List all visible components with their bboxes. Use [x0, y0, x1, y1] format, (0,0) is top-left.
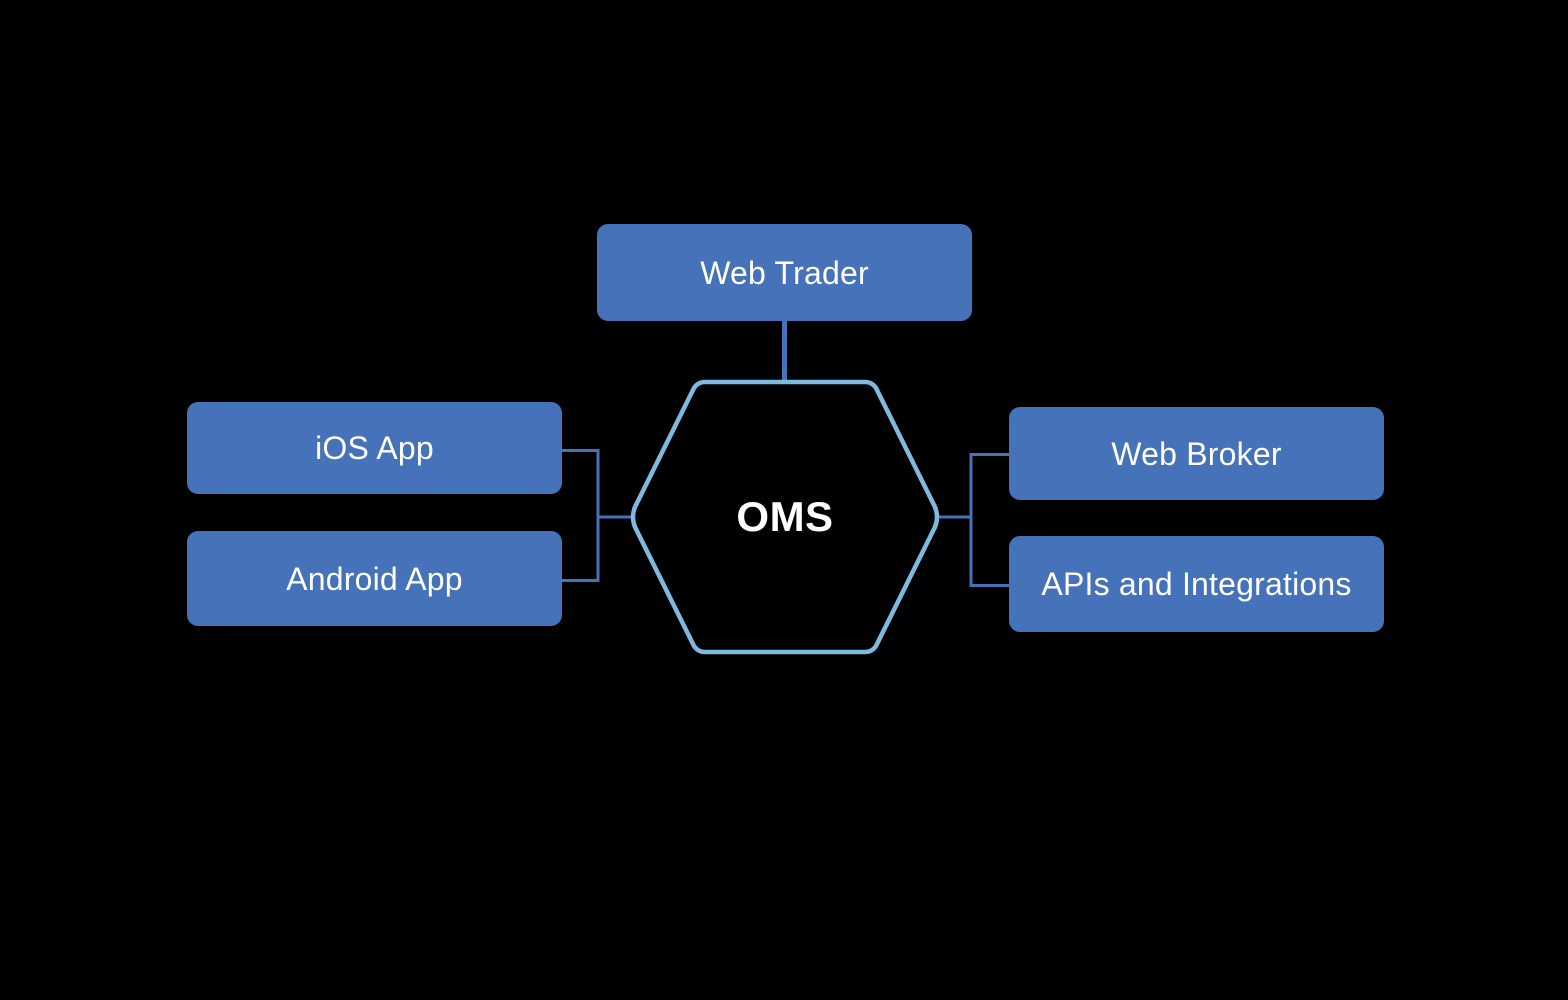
hexagon-outline: [633, 382, 937, 652]
oms-hexagon: [624, 374, 946, 660]
diagram-canvas: OMS Web Trader iOS App Android App Web B…: [0, 0, 1568, 1000]
node-android-app[interactable]: Android App: [187, 531, 562, 626]
node-web-broker-label: Web Broker: [1111, 438, 1281, 470]
node-ios-app[interactable]: iOS App: [187, 402, 562, 494]
node-apis-and-integrations[interactable]: APIs and Integrations: [1009, 536, 1384, 632]
connector-right-bracket: [971, 455, 1009, 586]
connector-left-bracket: [562, 451, 598, 581]
node-android-app-label: Android App: [286, 563, 463, 595]
node-web-broker[interactable]: Web Broker: [1009, 407, 1384, 500]
node-web-trader-label: Web Trader: [700, 257, 869, 289]
node-apis-and-integrations-label: APIs and Integrations: [1041, 568, 1351, 600]
node-ios-app-label: iOS App: [315, 432, 434, 464]
node-web-trader[interactable]: Web Trader: [597, 224, 972, 321]
